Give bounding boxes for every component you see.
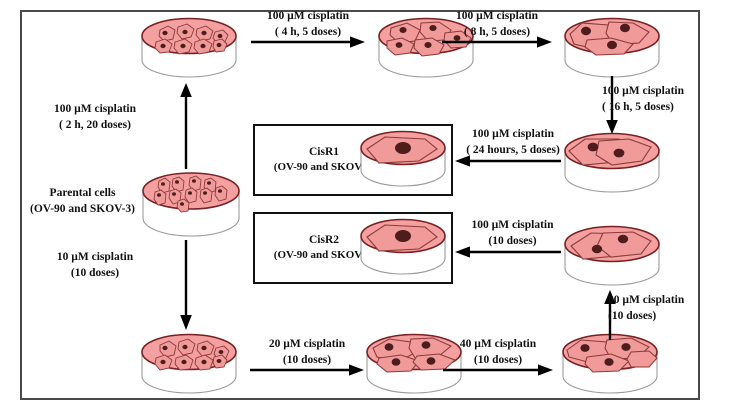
label-down-10um-line1: 10 µM cisplatin [30,250,160,266]
cisr1-name: CisR1 [309,146,339,158]
label-right-8h-line2: ( 8 h, 5 doses) [432,25,562,41]
dish-bottom-right [555,330,665,402]
dish-top-left [134,14,244,86]
arrow-down-10um [176,240,196,330]
dish-parental [136,168,246,244]
label-left-24h-line1: 100 µM cisplatin [443,127,583,143]
label-right-8h-line1: 100 µM cisplatin [432,9,562,25]
label-right-4h-line1: 100 µM cisplatin [243,9,373,25]
label-right-8h: 100 µM cisplatin ( 8 h, 5 doses) [432,9,562,40]
label-left-24h: 100 µM cisplatin ( 24 hours, 5 doses) [443,127,583,158]
label-up-2h-main: 100 µM cisplatin ( 2 h, 20 doses) [30,102,160,133]
dish-cisr2 [353,215,453,283]
arrow-up-parental-to-top [176,83,196,169]
label-right-4h-line2: ( 4 h, 5 doses) [243,25,373,41]
label-parental-line2: (OV-90 and SKOV-3) [20,202,145,218]
label-right-40um-line1: 40 µM cisplatin [433,337,563,353]
label-up-80um-line2: (10 doses) [608,309,728,325]
label-left-100um: 100 µM cisplatin (10 doses) [445,218,580,249]
label-right-40um: 40 µM cisplatin (10 doses) [433,337,563,368]
dish-cisr1 [353,127,453,195]
label-right-4h: 100 µM cisplatin ( 4 h, 5 doses) [243,9,373,40]
label-right-20um-line2: (10 doses) [242,353,372,369]
cisr2-name: CisR2 [309,234,339,246]
label-down-16h-line2: ( 16 h, 5 doses) [602,100,727,116]
label-left-100um-line2: (10 doses) [445,234,580,250]
label-down-16h: 100 µM cisplatin ( 16 h, 5 doses) [602,84,727,115]
label-left-24h-line2: ( 24 hours, 5 doses) [443,143,583,159]
label-parental-line1: Parental cells [20,186,145,202]
label-up-2h-main-line1: 100 µM cisplatin [30,102,160,118]
label-right-40um-line2: (10 doses) [433,353,563,369]
label-up-80um-line1: 80 µM cisplatin [608,293,728,309]
label-parental-cells: Parental cells (OV-90 and SKOV-3) [20,186,145,217]
label-down-16h-line1: 100 µM cisplatin [602,84,727,100]
dish-bottom-left [134,330,244,402]
label-right-20um-line1: 20 µM cisplatin [242,337,372,353]
label-down-10um: 10 µM cisplatin (10 doses) [30,250,160,281]
label-up-2h-main-line2: ( 2 h, 20 doses) [30,118,160,134]
label-left-100um-line1: 100 µM cisplatin [445,218,580,234]
label-right-20um: 20 µM cisplatin (10 doses) [242,337,372,368]
label-up-80um: 80 µM cisplatin (10 doses) [608,293,728,324]
figure-canvas: CisR1 (OV-90 and SKOV-3) CisR2 (OV-90 an… [0,0,729,419]
label-down-10um-line2: (10 doses) [30,266,160,282]
